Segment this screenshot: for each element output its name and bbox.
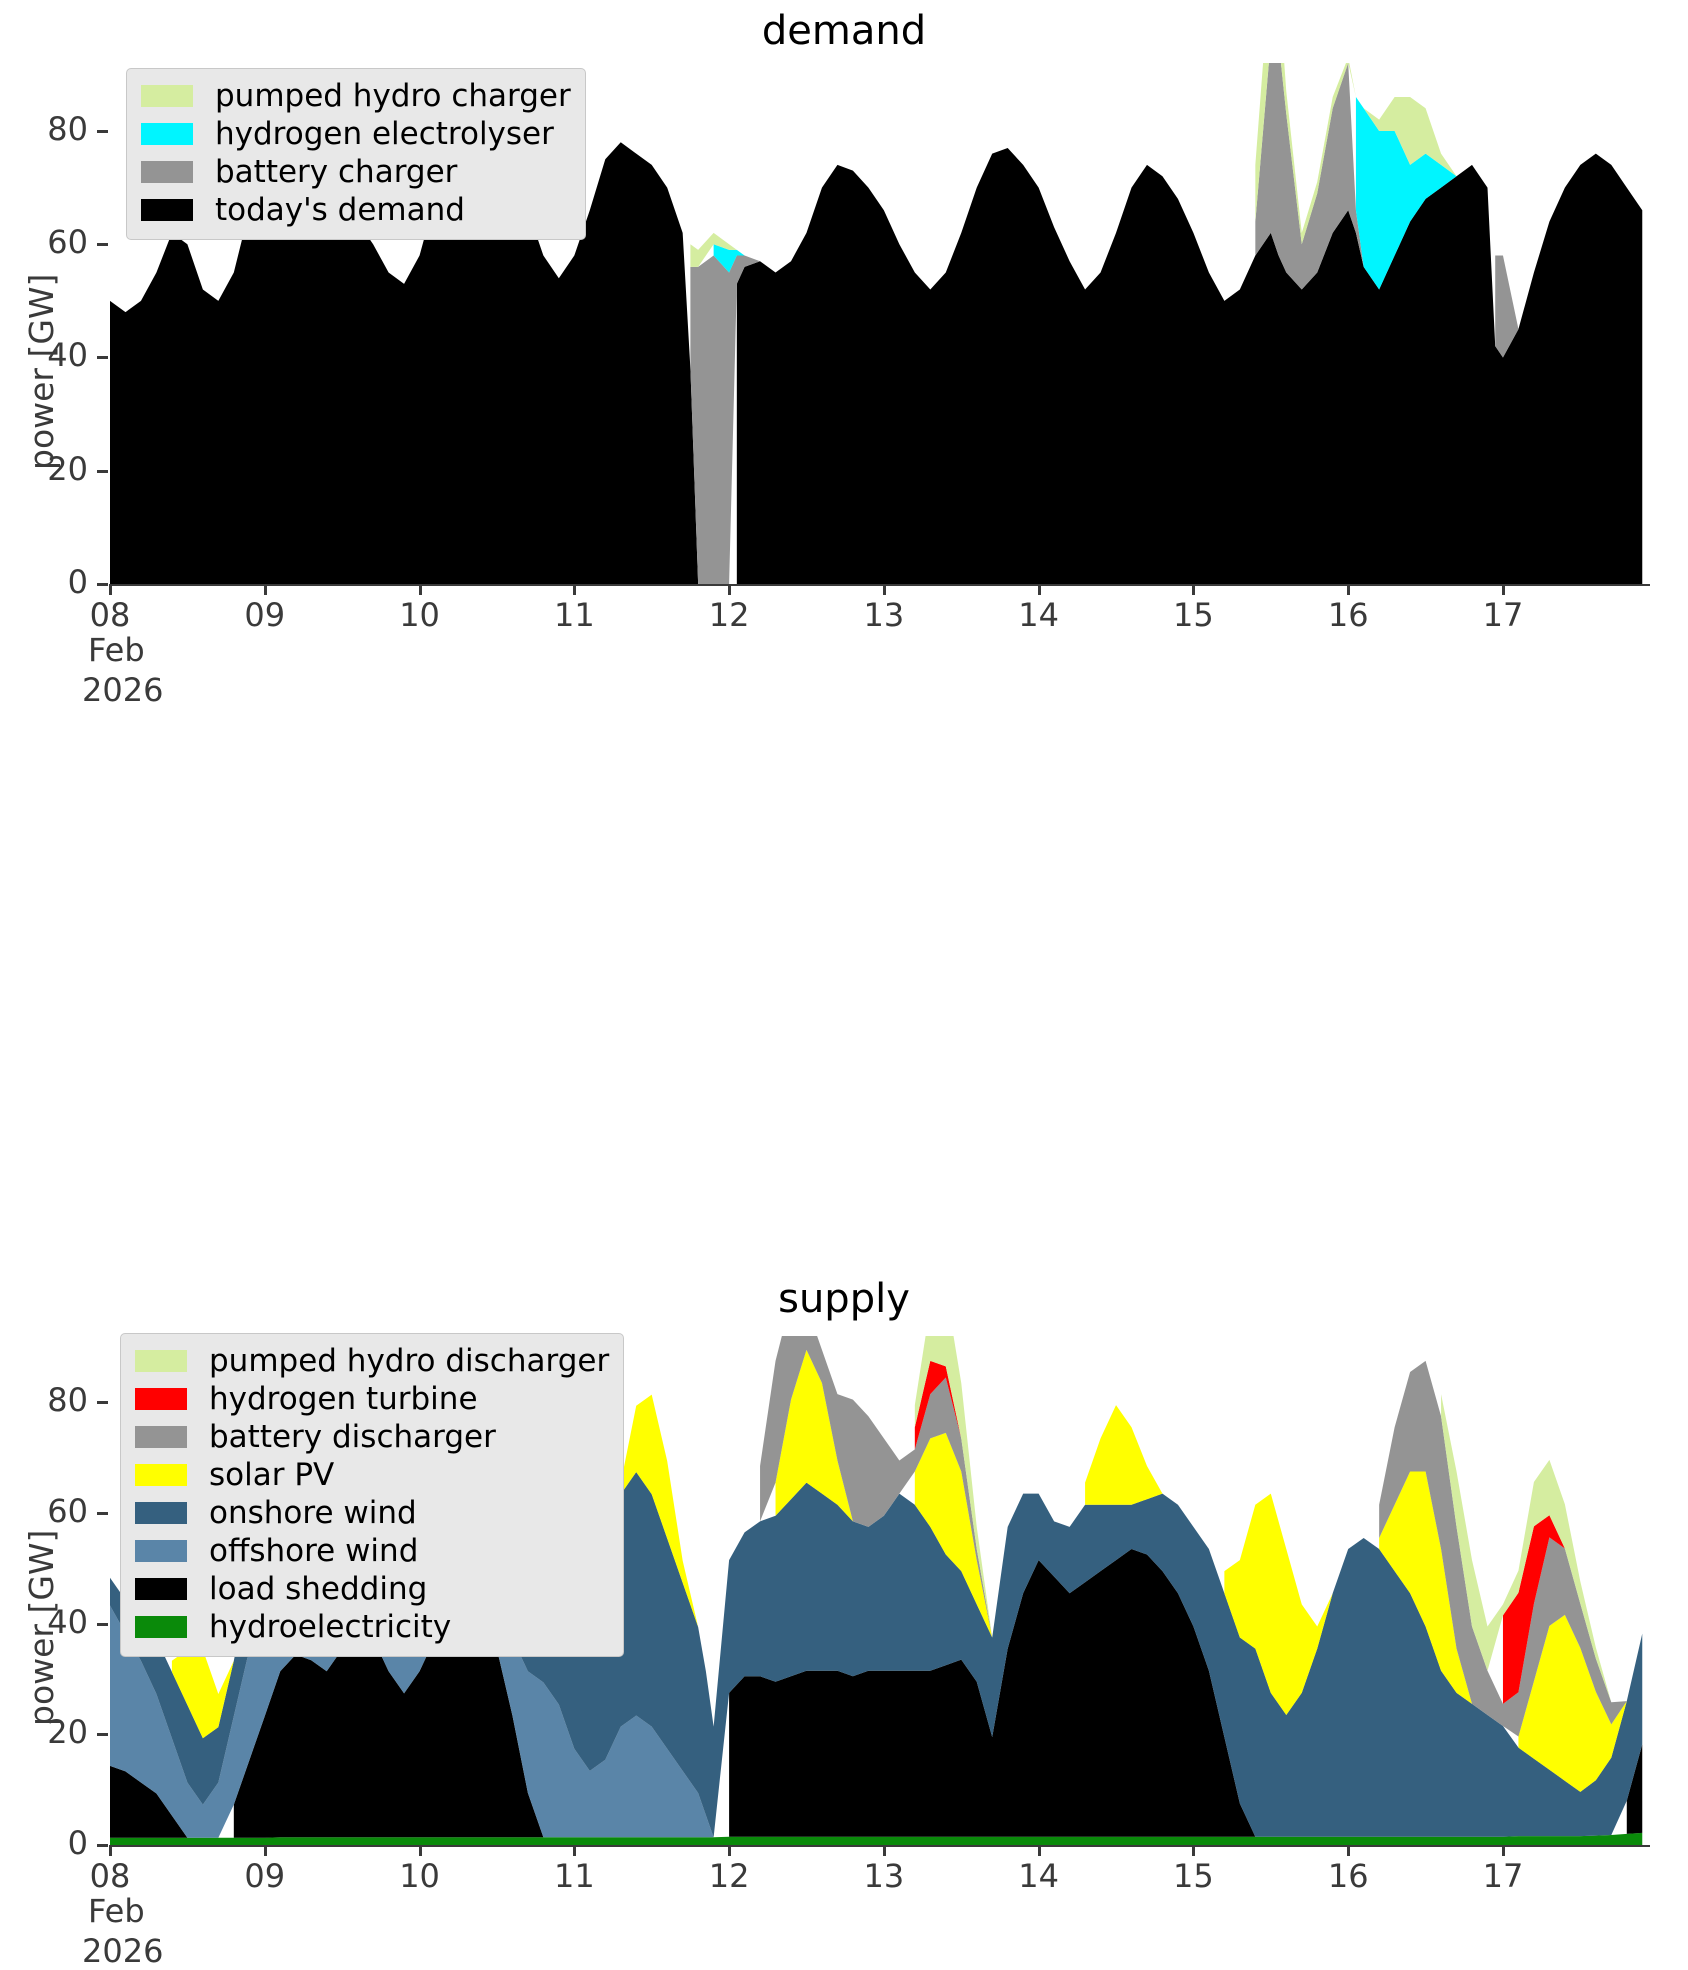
page-title-demand: demand bbox=[0, 8, 1688, 54]
legend-item-label: hydrogen turbine bbox=[209, 1384, 478, 1415]
x-tick-label: 08 bbox=[70, 596, 150, 634]
x-tick-label: 17 bbox=[1463, 1857, 1543, 1895]
x-tick-label: 13 bbox=[844, 596, 924, 634]
legend-item[interactable]: solar PV bbox=[135, 1456, 609, 1494]
y-tick-mark bbox=[97, 1401, 108, 1404]
legend-item-label: battery charger bbox=[215, 157, 457, 188]
panel-supply: supply power [GW] 020406080 080910111213… bbox=[0, 636, 1688, 1431]
legend-item-label: offshore wind bbox=[209, 1536, 418, 1567]
legend-supply: pumped hydro dischargerhydrogen turbineb… bbox=[120, 1333, 624, 1657]
legend-item[interactable]: offshore wind bbox=[135, 1532, 609, 1570]
x-axis-line bbox=[110, 1845, 1650, 1847]
x-tick-label: 09 bbox=[225, 1857, 305, 1895]
x-tick-label: 15 bbox=[1153, 596, 1233, 634]
legend-item-label: solar PV bbox=[209, 1460, 334, 1491]
legend-item[interactable]: pumped hydro charger bbox=[141, 77, 571, 115]
x-tick-label: 12 bbox=[689, 1857, 769, 1895]
area-series-today-s-demand bbox=[737, 148, 1642, 584]
legend-item-label: today's demand bbox=[215, 195, 465, 226]
legend-color-swatch-icon bbox=[135, 1502, 187, 1524]
y-tick-mark bbox=[97, 583, 108, 586]
y-tick-mark bbox=[97, 243, 108, 246]
legend-item[interactable]: battery charger bbox=[141, 153, 571, 191]
legend-color-swatch-icon bbox=[141, 85, 193, 107]
legend-item[interactable]: hydrogen electrolyser bbox=[141, 115, 571, 153]
y-tick-mark bbox=[97, 1733, 108, 1736]
x-tick-label: 11 bbox=[534, 596, 614, 634]
x-axis-line bbox=[110, 584, 1650, 586]
legend-color-swatch-icon bbox=[135, 1540, 187, 1562]
y-tick-label: 80 bbox=[18, 110, 88, 148]
x-tick-label: 09 bbox=[225, 596, 305, 634]
legend-item[interactable]: load shedding bbox=[135, 1570, 609, 1608]
legend-color-swatch-icon bbox=[135, 1616, 187, 1638]
legend-item[interactable]: hydrogen turbine bbox=[135, 1380, 609, 1418]
x-tick-label: 11 bbox=[534, 1857, 614, 1895]
y-tick-mark bbox=[97, 130, 108, 133]
x-tick-label: 14 bbox=[999, 1857, 1079, 1895]
x-tick-label: 14 bbox=[999, 596, 1079, 634]
y-tick-label: 80 bbox=[18, 1381, 88, 1419]
x-tick-label: 17 bbox=[1463, 596, 1543, 634]
y-tick-label: 40 bbox=[18, 336, 88, 374]
y-tick-mark bbox=[97, 1512, 108, 1515]
x-tick-label: 10 bbox=[380, 596, 460, 634]
y-tick-mark bbox=[97, 470, 108, 473]
y-tick-label: 20 bbox=[18, 1713, 88, 1751]
legend-item-label: pumped hydro charger bbox=[215, 81, 571, 112]
legend-item[interactable]: today's demand bbox=[141, 191, 571, 229]
x-tick-label: 13 bbox=[844, 1857, 924, 1895]
y-tick-mark bbox=[97, 1844, 108, 1847]
legend-item[interactable]: hydroelectricity bbox=[135, 1608, 609, 1646]
legend-color-swatch-icon bbox=[135, 1350, 187, 1372]
legend-item-label: hydrogen electrolyser bbox=[215, 119, 554, 150]
y-tick-label: 60 bbox=[18, 223, 88, 261]
x-tick-label: 16 bbox=[1308, 1857, 1388, 1895]
legend-item[interactable]: onshore wind bbox=[135, 1494, 609, 1532]
legend-color-swatch-icon bbox=[135, 1426, 187, 1448]
y-tick-label: 20 bbox=[18, 450, 88, 488]
page-title-supply: supply bbox=[0, 1276, 1688, 1322]
legend-color-swatch-icon bbox=[141, 199, 193, 221]
panel-demand: demand power [GW] 020406080 080910111213… bbox=[0, 0, 1688, 700]
legend-item-label: onshore wind bbox=[209, 1498, 417, 1529]
x-axis-date-month-supply: Feb bbox=[88, 1892, 145, 1930]
x-tick-label: 15 bbox=[1153, 1857, 1233, 1895]
x-tick-label: 08 bbox=[70, 1857, 150, 1895]
y-tick-mark bbox=[97, 356, 108, 359]
figure-root: demand power [GW] 020406080 080910111213… bbox=[0, 0, 1688, 1431]
legend-item-label: pumped hydro discharger bbox=[209, 1346, 609, 1377]
y-tick-label: 60 bbox=[18, 1492, 88, 1530]
x-tick-label: 12 bbox=[689, 596, 769, 634]
legend-color-swatch-icon bbox=[135, 1388, 187, 1410]
legend-item-label: load shedding bbox=[209, 1574, 427, 1605]
x-tick-label: 16 bbox=[1308, 596, 1388, 634]
legend-item-label: battery discharger bbox=[209, 1422, 496, 1453]
x-tick-label: 10 bbox=[380, 1857, 460, 1895]
legend-color-swatch-icon bbox=[135, 1578, 187, 1600]
legend-item[interactable]: pumped hydro discharger bbox=[135, 1342, 609, 1380]
x-axis-date-year-supply: 2026 bbox=[82, 1932, 163, 1970]
y-tick-mark bbox=[97, 1623, 108, 1626]
legend-item[interactable]: battery discharger bbox=[135, 1418, 609, 1456]
area-series-solar-pv bbox=[1085, 1405, 1162, 1505]
legend-color-swatch-icon bbox=[141, 161, 193, 183]
legend-color-swatch-icon bbox=[141, 123, 193, 145]
y-tick-label: 40 bbox=[18, 1603, 88, 1641]
legend-item-label: hydroelectricity bbox=[209, 1612, 451, 1643]
legend-color-swatch-icon bbox=[135, 1464, 187, 1486]
legend-demand: pumped hydro chargerhydrogen electrolyse… bbox=[126, 68, 586, 240]
